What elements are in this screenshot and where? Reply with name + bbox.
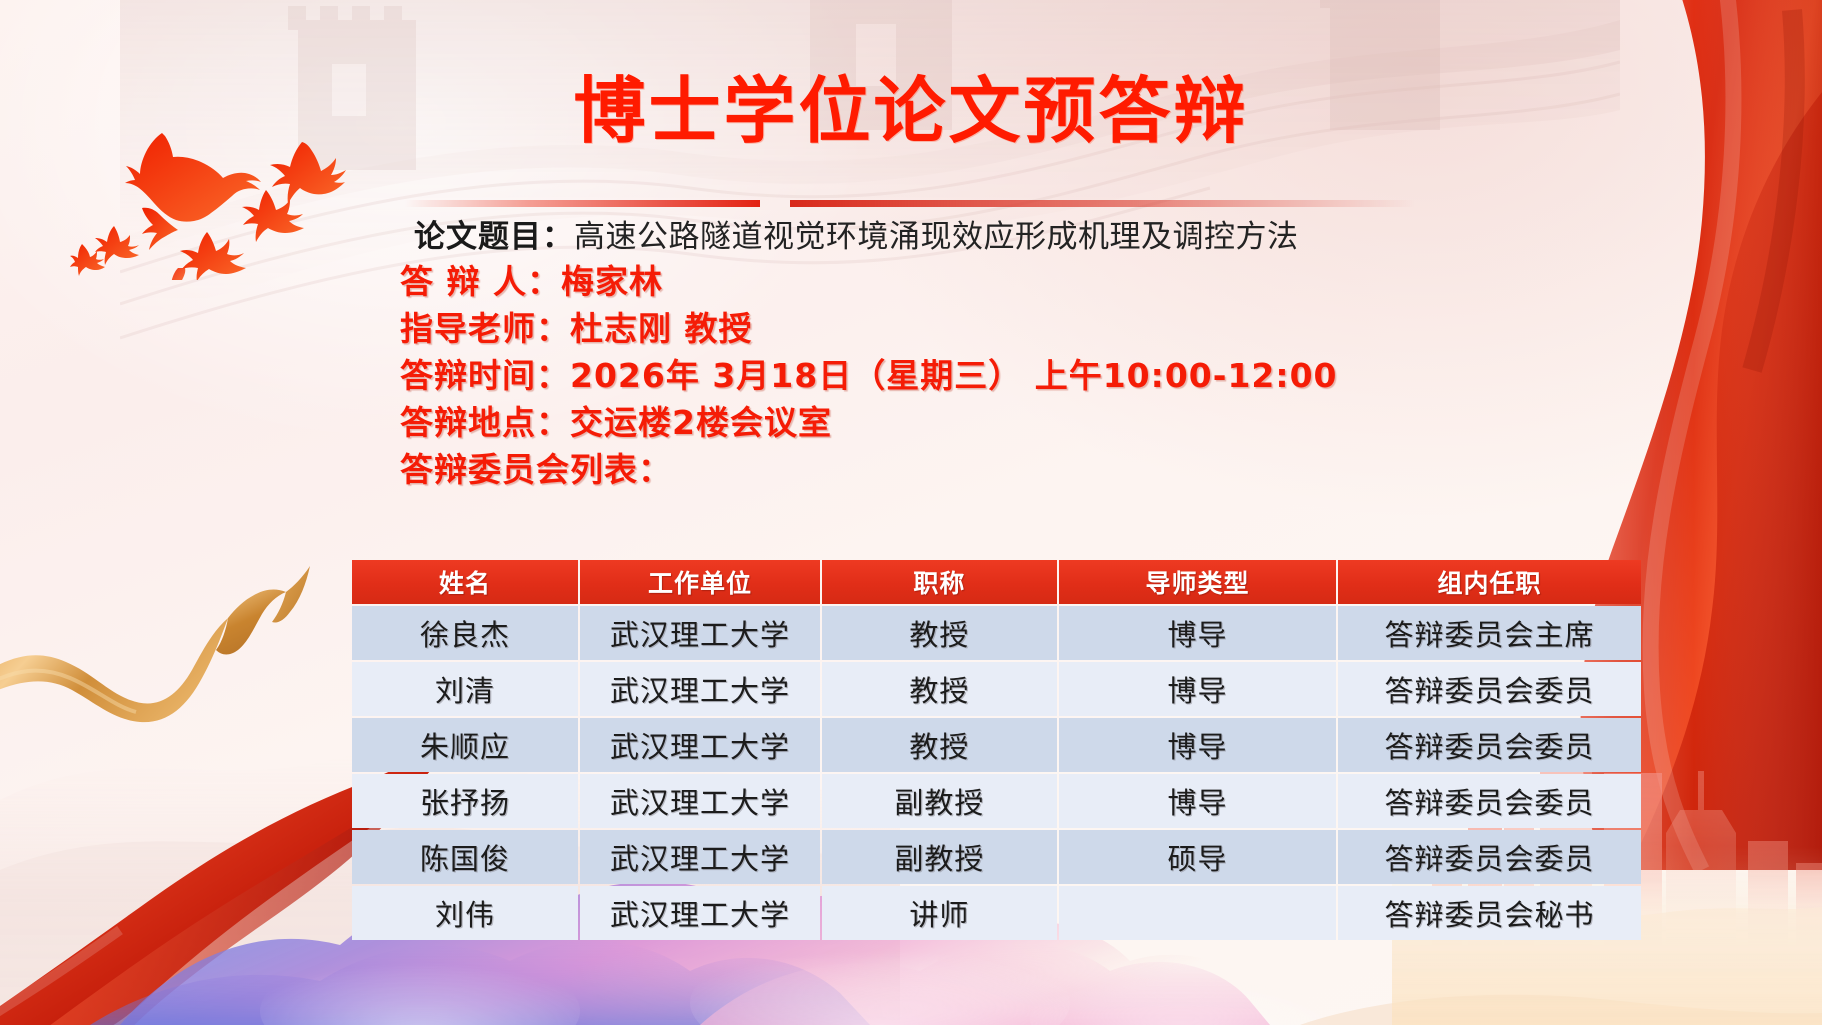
cell-advisor-type [1059,886,1336,940]
committee-table-wrapper: 姓名 工作单位 职称 导师类型 组内任职 徐良杰 武汉理工大学 教授 博导 答辩… [350,558,1643,942]
author-line: 答 辩 人：梅家林 [400,265,1522,298]
title-divider [405,200,1415,207]
cell-org: 武汉理工大学 [580,606,820,660]
defense-time-line: 答辩时间：2026年 3月18日（星期三） 上午10:00-12:00 [400,359,1522,392]
advisor-line: 指导老师：杜志刚 教授 [400,312,1522,345]
cell-role: 答辩委员会委员 [1338,662,1641,716]
defense-place-line: 答辩地点：交运楼2楼会议室 [400,406,1522,439]
committee-list-label: 答辩委员会列表： [400,453,1522,486]
thesis-title-line: 论文题目：高速公路隧道视觉环境涌现效应形成机理及调控方法 [414,222,1522,253]
cell-advisor-type: 博导 [1059,718,1336,772]
divider-segment-left [405,200,760,207]
cell-title: 讲师 [822,886,1057,940]
column-header-role: 组内任职 [1338,560,1641,604]
cell-advisor-type: 博导 [1059,606,1336,660]
column-header-org: 工作单位 [580,560,820,604]
cell-org: 武汉理工大学 [580,886,820,940]
table-header-row: 姓名 工作单位 职称 导师类型 组内任职 [352,560,1641,604]
cell-advisor-type: 博导 [1059,774,1336,828]
divider-segment-right [790,200,1415,207]
thesis-title-label: 论文题目： [414,219,574,255]
cell-name: 朱顺应 [352,718,578,772]
cell-title: 副教授 [822,830,1057,884]
presentation-slide: 博士学位论文预答辩 论文题目：高速公路隧道视觉环境涌现效应形成机理及调控方法 答… [0,0,1822,1025]
cell-org: 武汉理工大学 [580,662,820,716]
cell-role: 答辩委员会委员 [1338,830,1641,884]
cell-org: 武汉理工大学 [580,830,820,884]
cell-title: 教授 [822,718,1057,772]
gold-ribbon-icon [0,520,310,760]
table-row: 朱顺应 武汉理工大学 教授 博导 答辩委员会委员 [352,718,1641,772]
cell-title: 副教授 [822,774,1057,828]
cell-role: 答辩委员会委员 [1338,774,1641,828]
cell-role: 答辩委员会主席 [1338,606,1641,660]
committee-table: 姓名 工作单位 职称 导师类型 组内任职 徐良杰 武汉理工大学 教授 博导 答辩… [350,558,1643,942]
column-header-advisor-type: 导师类型 [1059,560,1336,604]
committee-table-body: 徐良杰 武汉理工大学 教授 博导 答辩委员会主席 刘清 武汉理工大学 教授 博导… [352,606,1641,940]
cell-title: 教授 [822,662,1057,716]
table-row: 徐良杰 武汉理工大学 教授 博导 答辩委员会主席 [352,606,1641,660]
table-row: 刘清 武汉理工大学 教授 博导 答辩委员会委员 [352,662,1641,716]
cell-role: 答辩委员会秘书 [1338,886,1641,940]
cell-org: 武汉理工大学 [580,774,820,828]
column-header-title: 职称 [822,560,1057,604]
table-row: 张抒扬 武汉理工大学 副教授 博导 答辩委员会委员 [352,774,1641,828]
committee-table-head: 姓名 工作单位 职称 导师类型 组内任职 [352,560,1641,604]
cell-advisor-type: 硕导 [1059,830,1336,884]
column-header-name: 姓名 [352,560,578,604]
thesis-title-value: 高速公路隧道视觉环境涌现效应形成机理及调控方法 [574,219,1299,255]
defense-info-block: 论文题目：高速公路隧道视觉环境涌现效应形成机理及调控方法 答 辩 人：梅家林 指… [462,222,1522,496]
cell-name: 刘清 [352,662,578,716]
cell-name: 陈国俊 [352,830,578,884]
table-row: 陈国俊 武汉理工大学 副教授 硕导 答辩委员会委员 [352,830,1641,884]
cell-advisor-type: 博导 [1059,662,1336,716]
cell-title: 教授 [822,606,1057,660]
cell-name: 徐良杰 [352,606,578,660]
cell-role: 答辩委员会委员 [1338,718,1641,772]
cell-name: 刘伟 [352,886,578,940]
cell-org: 武汉理工大学 [580,718,820,772]
cell-name: 张抒扬 [352,774,578,828]
page-title: 博士学位论文预答辩 [0,52,1822,157]
table-row: 刘伟 武汉理工大学 讲师 答辩委员会秘书 [352,886,1641,940]
